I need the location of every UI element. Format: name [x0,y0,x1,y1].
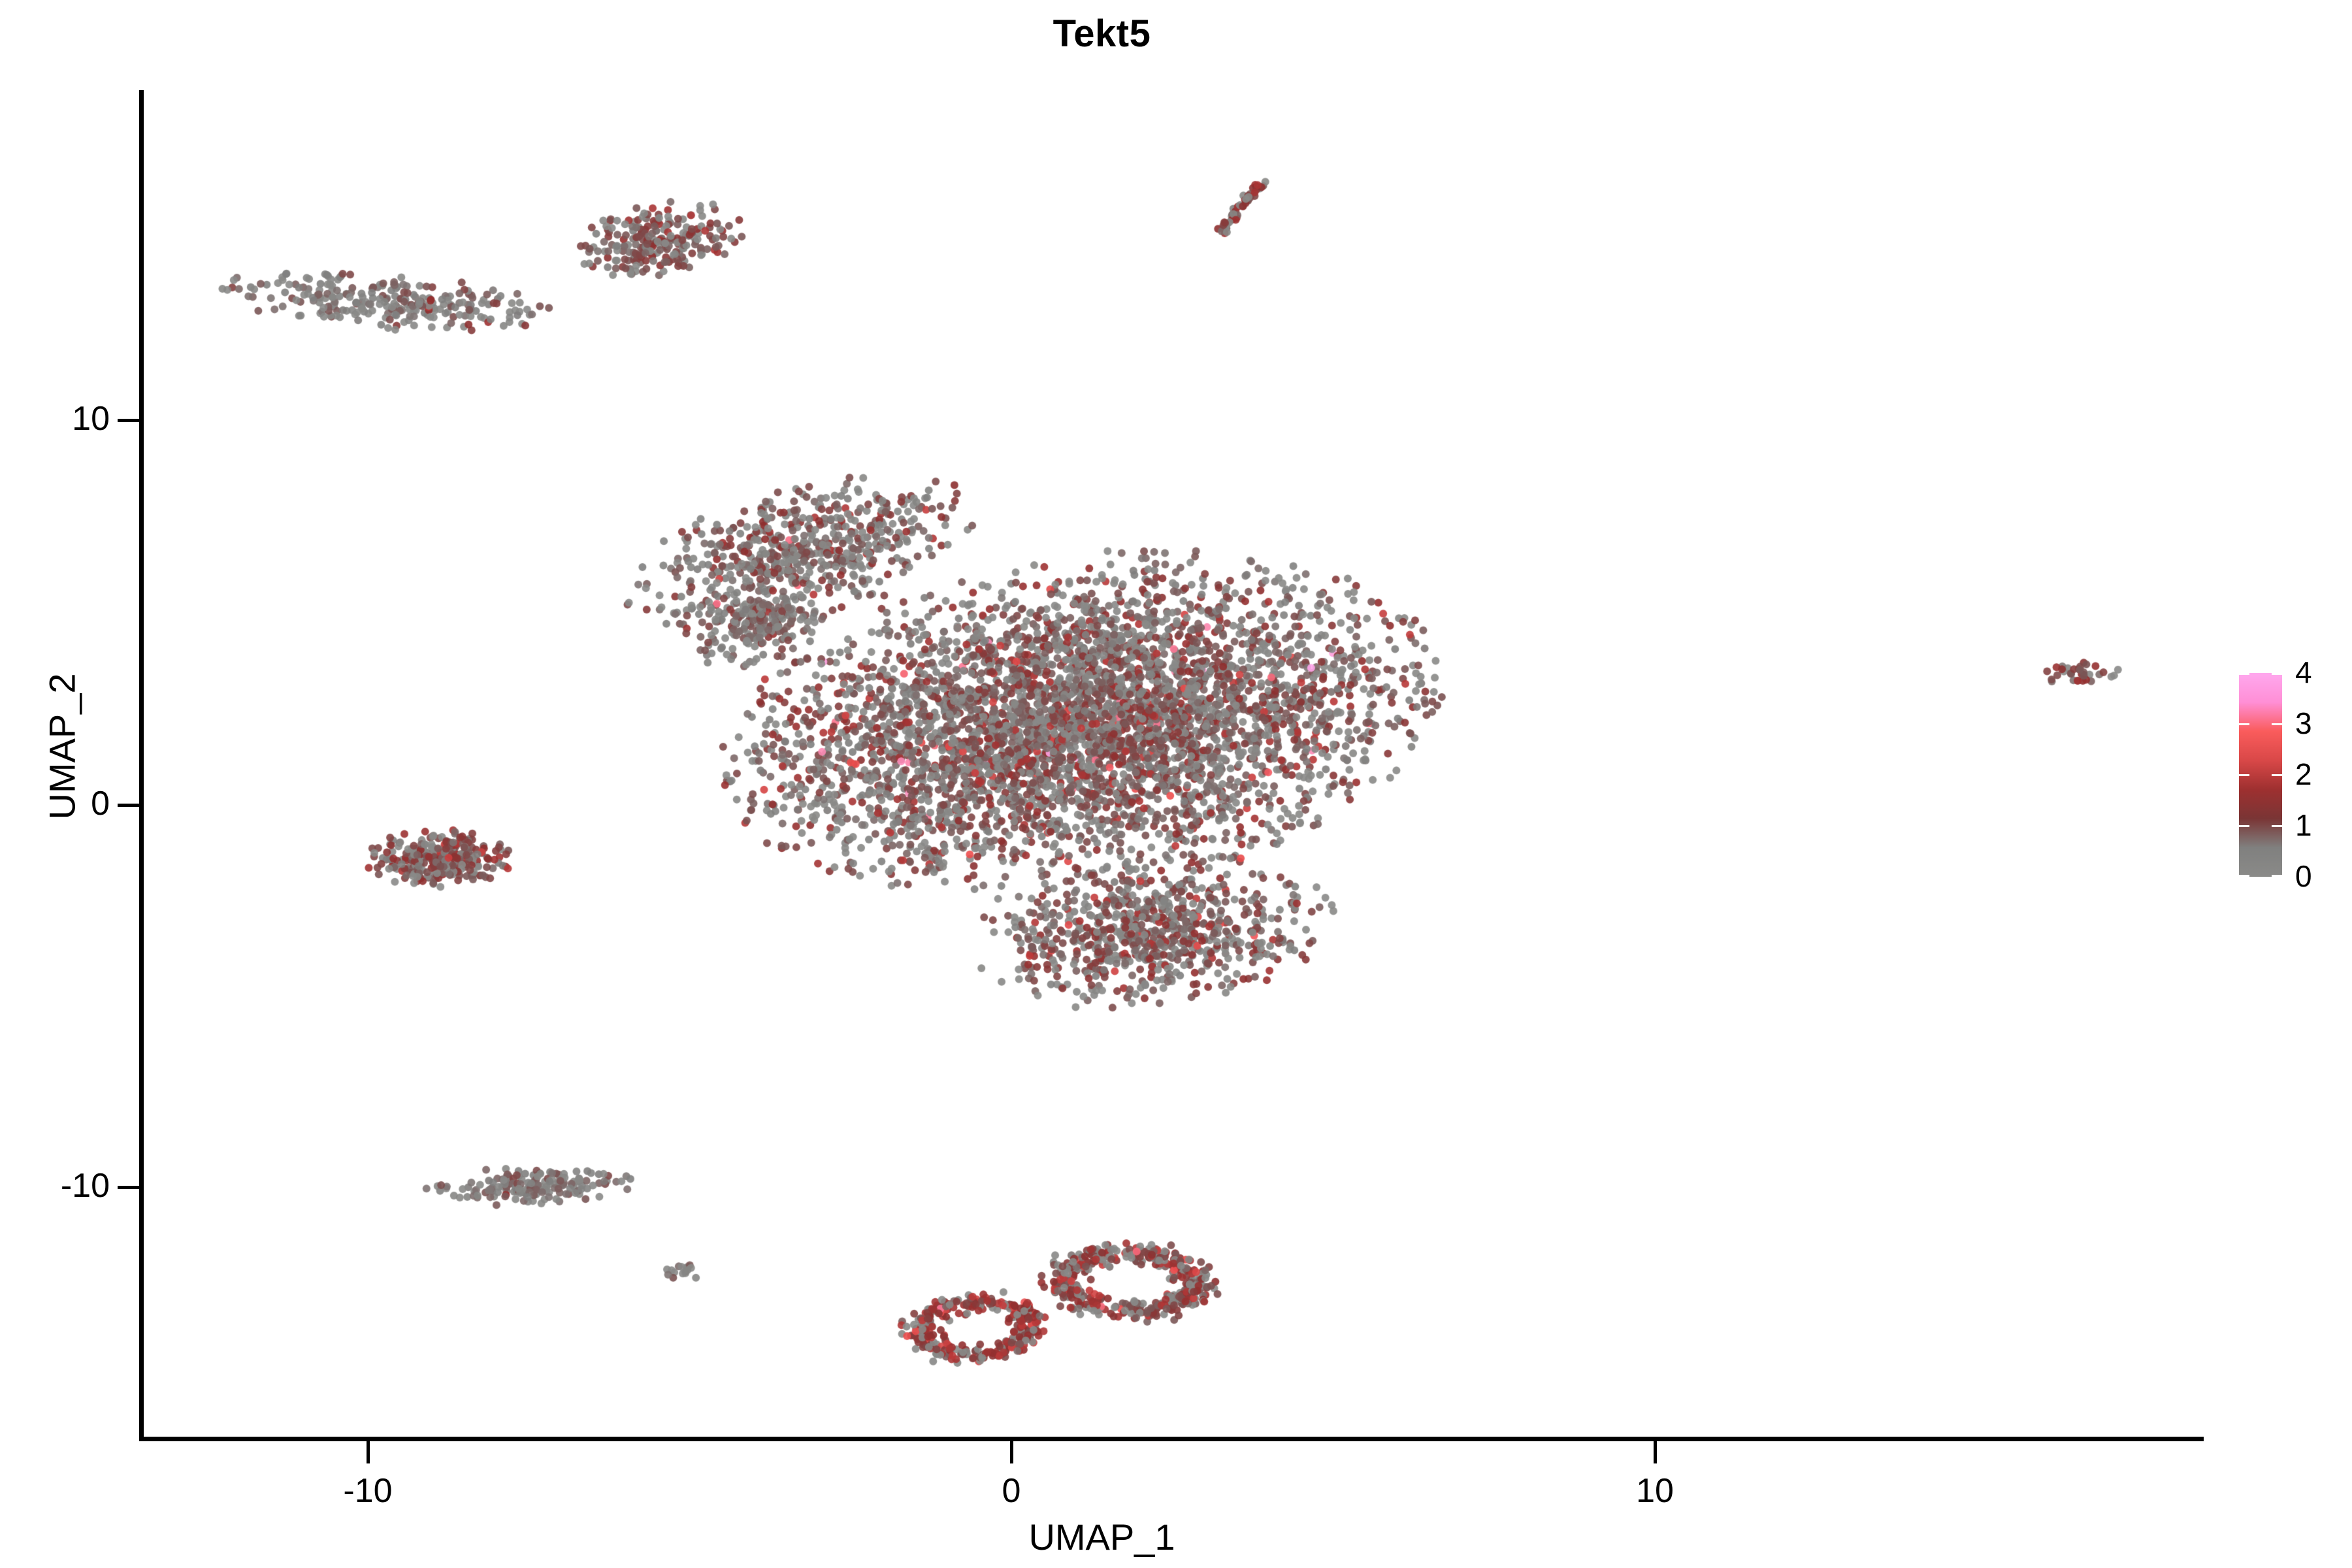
x-tick-label: 0 [913,1474,1109,1508]
legend-tick-right [2272,825,2282,827]
legend-tick-left [2239,723,2249,725]
y-axis-title: UMAP_2 [41,355,84,1139]
color-legend: 43210 [2239,673,2344,882]
x-tick-mark [1654,1441,1657,1463]
y-tick-mark [118,419,140,422]
y-tick-mark [118,1186,140,1189]
legend-tick-left [2239,673,2249,675]
legend-tick-right [2272,673,2282,675]
x-axis-title: UMAP_1 [0,1516,2204,1558]
x-tick-mark [367,1441,370,1463]
legend-label-3: 3 [2295,708,2341,738]
x-tick-mark [1010,1441,1013,1463]
legend-tick-right [2272,723,2282,725]
legend-tick-left [2239,774,2249,776]
page-title: Tekt5 [0,12,2204,56]
y-tick-mark [118,804,140,807]
legend-tick-left [2239,875,2249,877]
legend-label-2: 2 [2295,759,2341,789]
x-tick-label: 10 [1557,1474,1753,1508]
legend-label-1: 1 [2295,810,2341,840]
x-axis-line [139,1437,2204,1441]
legend-tick-left [2239,825,2249,827]
x-tick-label: -10 [270,1474,466,1508]
y-axis-line [139,90,144,1441]
y-tick-label: -10 [0,1169,110,1203]
scatter-canvas [144,90,2204,1439]
legend-label-4: 4 [2295,657,2341,687]
umap-feature-plot: Tekt5 100-10 -10010 UMAP_1 UMAP_2 43210 [0,0,2352,1568]
legend-label-0: 0 [2295,861,2341,891]
legend-tick-right [2272,875,2282,877]
plot-panel [144,90,2204,1439]
legend-tick-right [2272,774,2282,776]
